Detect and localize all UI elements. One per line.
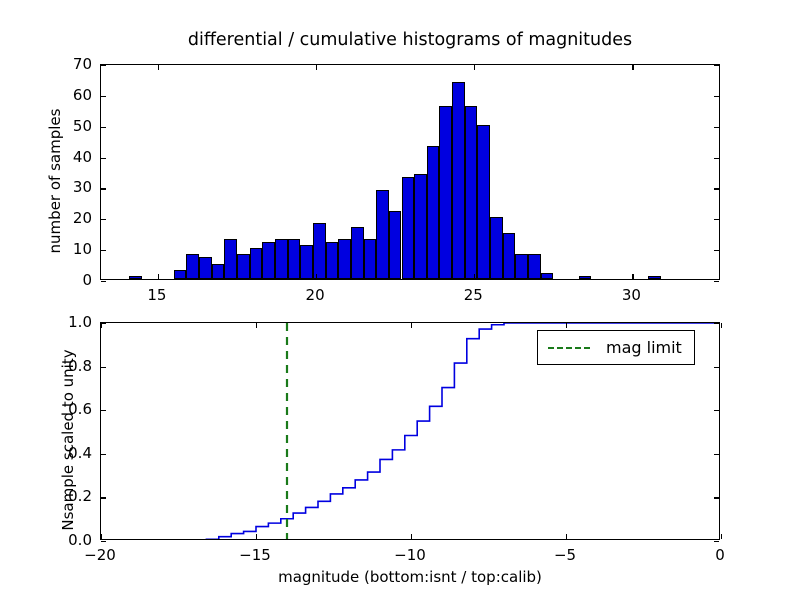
x-tick (411, 534, 412, 539)
x-tick-label: −10 (394, 546, 426, 564)
x-tick (316, 65, 317, 70)
differential-histogram-axes (100, 64, 720, 280)
histogram-bar (389, 211, 402, 279)
histogram-bar (338, 239, 351, 279)
x-tick (256, 534, 257, 539)
x-tick-label: 20 (306, 286, 325, 304)
x-tick-label: 30 (622, 286, 641, 304)
x-axis-label: magnitude (bottom:isnt / top:calib) (100, 568, 720, 586)
y-tick (101, 96, 106, 97)
histogram-bar (427, 146, 440, 279)
histogram-bar (250, 248, 263, 279)
y-tick (714, 281, 719, 282)
histogram-bar (490, 217, 503, 279)
x-tick-label: −15 (239, 546, 271, 564)
bottom-y-axis-label: Nsample scaled to unity (59, 300, 77, 580)
mag-limit-line-swatch-icon (548, 347, 590, 349)
histogram-bar (515, 254, 528, 279)
y-tick (101, 323, 106, 324)
x-tick (632, 65, 633, 70)
histogram-bar (199, 257, 212, 279)
x-tick-label: 0 (715, 546, 725, 564)
x-tick (158, 274, 159, 279)
y-tick (101, 410, 106, 411)
x-tick (566, 323, 567, 328)
y-tick (714, 219, 719, 220)
y-tick (101, 281, 106, 282)
x-tick (316, 274, 317, 279)
y-tick (101, 188, 106, 189)
y-tick (714, 541, 719, 542)
y-tick (101, 65, 106, 66)
x-tick-label: −5 (554, 546, 576, 564)
histogram-bar (439, 106, 452, 279)
histogram-bar (364, 239, 377, 279)
x-tick (101, 534, 102, 539)
histogram-bar (528, 254, 541, 279)
y-tick (714, 497, 719, 498)
legend-label-mag-limit: mag limit (606, 338, 682, 357)
y-tick-label: 70 (50, 55, 92, 73)
y-tick (714, 454, 719, 455)
histogram-bar (648, 276, 661, 279)
x-tick (632, 274, 633, 279)
y-tick (101, 497, 106, 498)
x-tick (474, 274, 475, 279)
histogram-bar (579, 276, 592, 279)
x-tick (256, 323, 257, 328)
x-tick-label: 15 (147, 286, 166, 304)
x-tick-label: 25 (464, 286, 483, 304)
x-tick (721, 323, 722, 328)
histogram-bar (326, 242, 339, 279)
histogram-bar (313, 223, 326, 279)
y-tick (714, 367, 719, 368)
histogram-bar (402, 177, 415, 279)
histogram-bar (477, 125, 490, 279)
y-tick (714, 127, 719, 128)
histogram-bar (129, 276, 142, 279)
y-tick (101, 127, 106, 128)
y-tick (714, 323, 719, 324)
y-tick (714, 65, 719, 66)
histogram-bar (351, 227, 364, 279)
y-tick (101, 250, 106, 251)
top-y-axis-label: number of samples (46, 81, 64, 281)
histogram-bar (224, 239, 237, 279)
x-tick (411, 323, 412, 328)
histogram-bar (288, 239, 301, 279)
x-tick (721, 534, 722, 539)
histogram-bar (376, 190, 389, 279)
histogram-bar (186, 254, 199, 279)
y-tick (101, 219, 106, 220)
page-title: differential / cumulative histograms of … (100, 30, 720, 50)
histogram-bar (452, 82, 465, 279)
y-tick (714, 96, 719, 97)
histogram-bar (541, 273, 554, 279)
y-tick (101, 454, 106, 455)
histogram-bar (237, 254, 250, 279)
y-tick (714, 250, 719, 251)
histogram-bar (414, 174, 427, 279)
y-tick (714, 410, 719, 411)
x-tick (474, 65, 475, 70)
histogram-bar (174, 270, 187, 279)
histogram-bar (465, 106, 478, 279)
y-tick (101, 541, 106, 542)
figure-canvas: differential / cumulative histograms of … (0, 0, 800, 600)
y-tick (101, 367, 106, 368)
y-tick (714, 188, 719, 189)
x-tick (158, 65, 159, 70)
legend[interactable]: mag limit (537, 330, 695, 365)
histogram-bar (300, 245, 313, 279)
histogram-bar (212, 264, 225, 279)
histogram-bar (503, 233, 516, 279)
y-tick (714, 158, 719, 159)
y-tick (101, 158, 106, 159)
x-tick (566, 534, 567, 539)
differential-histogram-plot-area (101, 65, 719, 279)
histogram-bar (262, 242, 275, 279)
histogram-bar (275, 239, 288, 279)
